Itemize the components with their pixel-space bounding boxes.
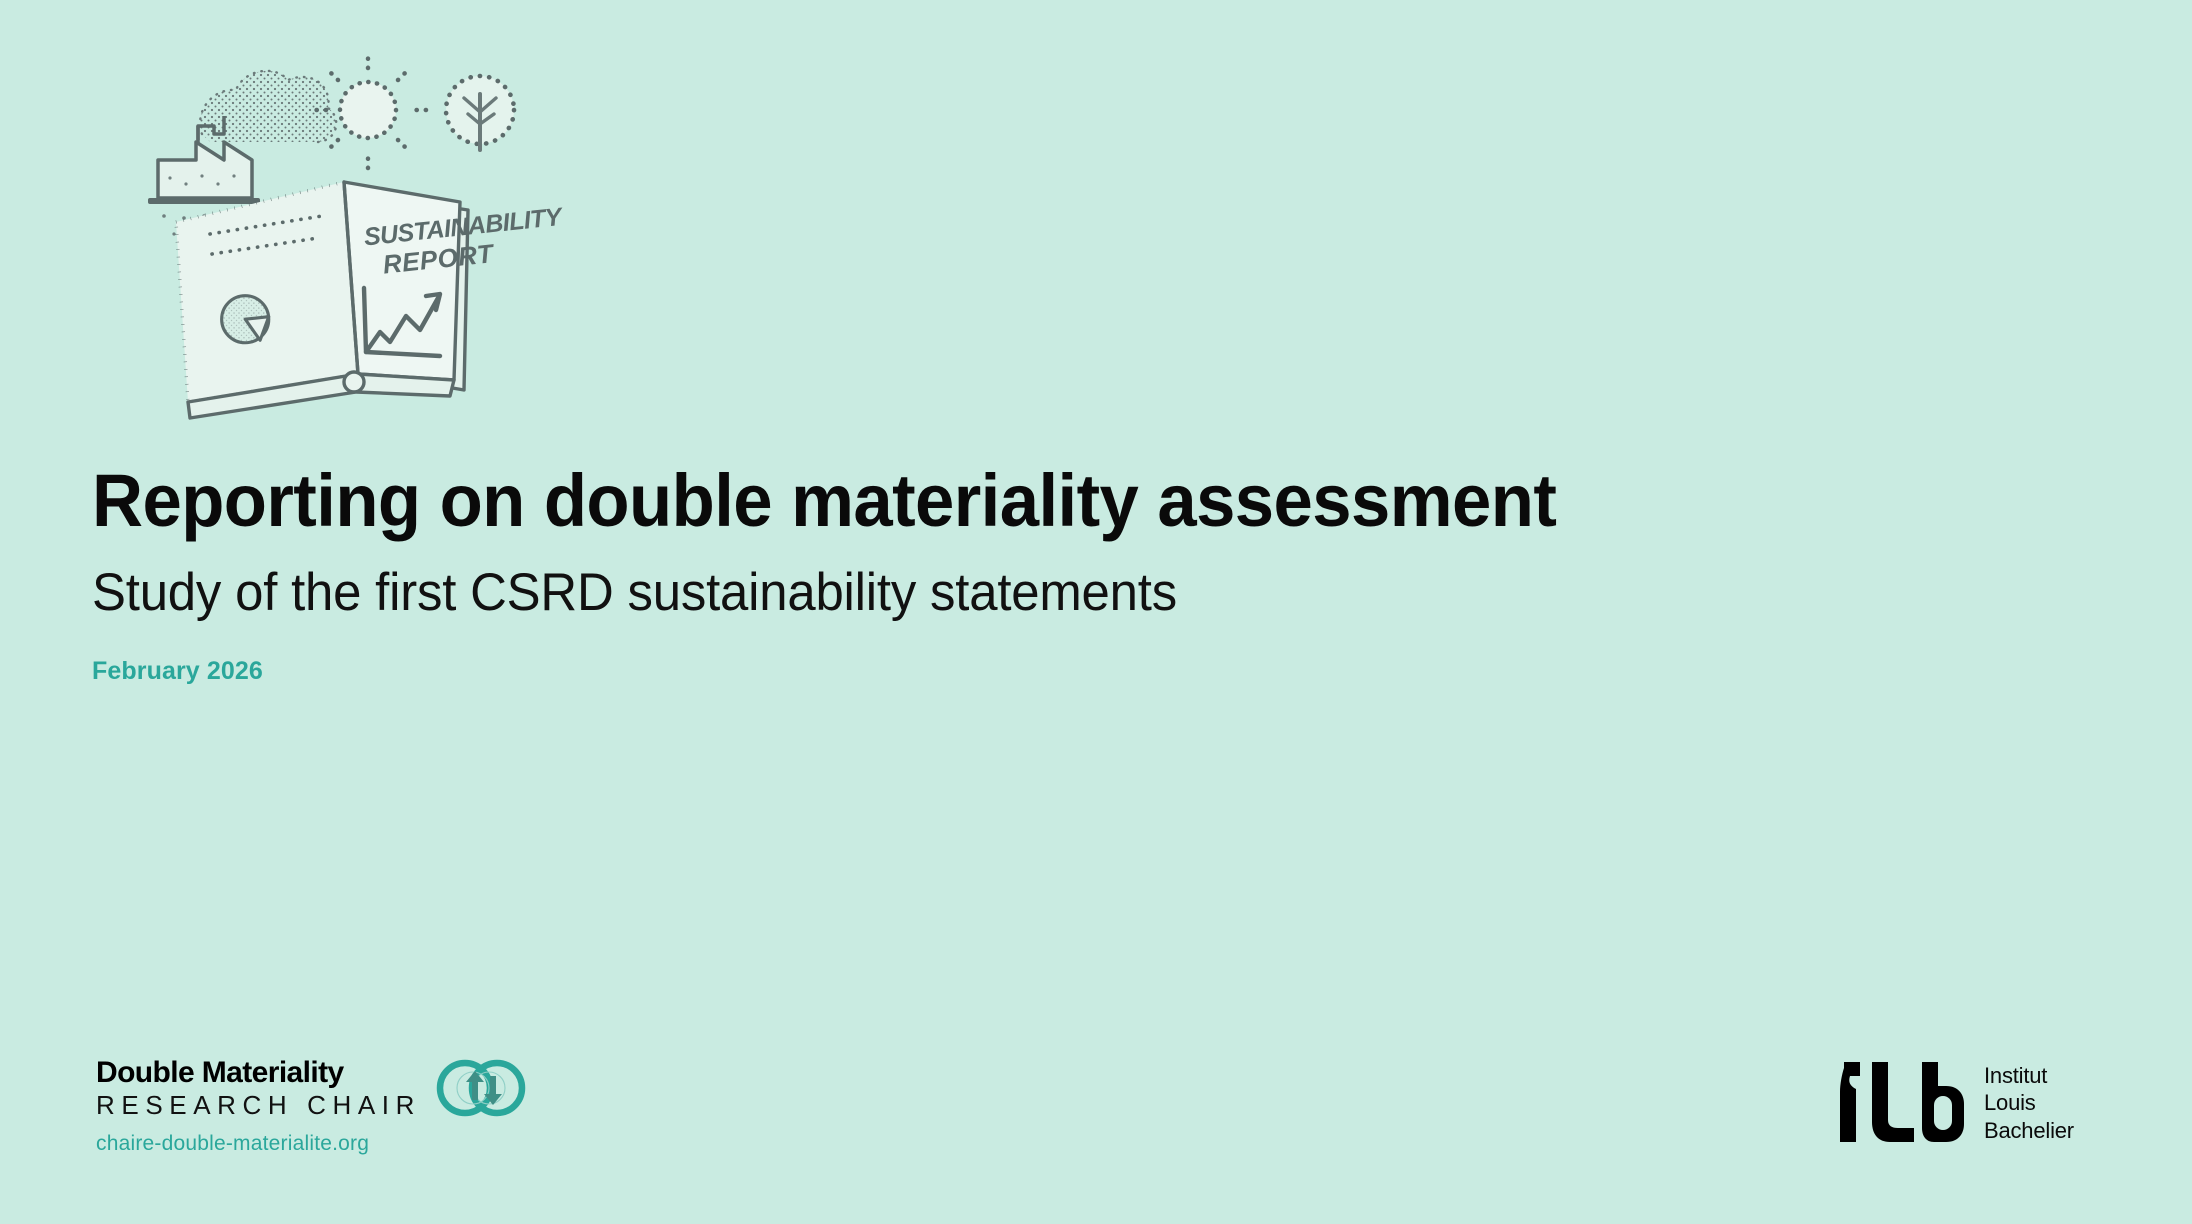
double-materiality-rings-icon — [435, 1058, 527, 1118]
chair-name: Double Materiality — [96, 1058, 421, 1089]
chair-website-url[interactable]: chaire-double-materialite.org — [96, 1132, 516, 1156]
ilb-line-3: Bachelier — [1984, 1117, 2074, 1144]
ilb-name-text: Institut Louis Bachelier — [1984, 1056, 2074, 1144]
chair-subtitle: RESEARCH CHAIR — [96, 1091, 421, 1121]
ilb-line-2: Louis — [1984, 1089, 2074, 1116]
sustainability-report-illustration: SUSTAINABILITY REPORT — [140, 38, 570, 438]
sun-icon — [310, 52, 426, 168]
cover-slide: SUSTAINABILITY REPORT Reporting on doubl… — [0, 0, 2192, 1224]
institut-louis-bachelier-logo[interactable]: Institut Louis Bachelier — [1838, 1056, 2074, 1148]
tree-icon — [446, 76, 514, 150]
page-subtitle: Study of the first CSRD sustainability s… — [92, 564, 1916, 622]
open-book-icon: SUSTAINABILITY REPORT — [176, 182, 568, 418]
cover-title-block: Reporting on double materiality assessme… — [92, 462, 1992, 686]
page-title: Reporting on double materiality assessme… — [92, 462, 1907, 540]
ilb-line-1: Institut — [1984, 1062, 2074, 1089]
double-materiality-chair-logo[interactable]: Double Materiality RESEARCH CHAIR chaire… — [96, 1058, 516, 1156]
chair-logo-row: Double Materiality RESEARCH CHAIR — [96, 1058, 516, 1120]
publication-date: February 2026 — [92, 657, 1992, 686]
chair-wordmark: Double Materiality RESEARCH CHAIR — [96, 1058, 421, 1120]
ilb-monogram-icon — [1838, 1056, 1966, 1148]
